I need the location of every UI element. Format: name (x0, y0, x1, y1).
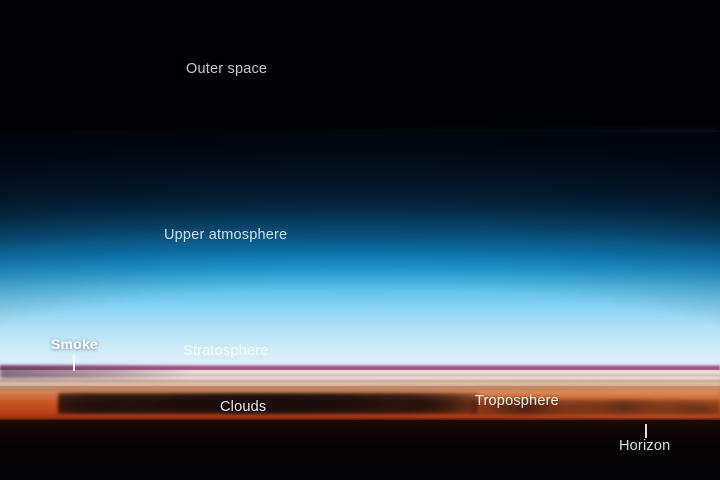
warm-haze-band (0, 386, 720, 402)
troposphere-glow-band (0, 400, 720, 426)
earth-night-side (0, 420, 720, 480)
label-outer-space: Outer space (186, 62, 267, 77)
dark-cloud-mass-left (58, 393, 478, 414)
leader-line-smoke (73, 355, 75, 371)
cloud-top-rim (0, 391, 720, 395)
label-smoke: Smoke (51, 337, 98, 351)
earth-limb-curvature (0, 132, 720, 382)
leader-line-horizon (645, 424, 647, 438)
label-stratosphere: Stratosphere (183, 344, 268, 359)
label-troposphere: Troposphere (475, 394, 559, 409)
airglow-streak (0, 125, 720, 170)
outer-space-band (0, 0, 720, 150)
horizon-edge-line (0, 418, 720, 422)
smoke-aerosol-band (0, 370, 720, 388)
label-upper-atmosphere: Upper atmosphere (164, 228, 287, 243)
tropopause-line (0, 364, 720, 373)
sunset-glow-right (0, 384, 720, 428)
label-horizon: Horizon (619, 439, 670, 454)
atmosphere-scene: Outer space Upper atmosphere Smoke Strat… (0, 0, 720, 480)
label-clouds: Clouds (220, 400, 266, 415)
smoke-dark-smudge (0, 366, 190, 379)
smoke-wisp-highlights (0, 368, 720, 390)
upper-atmosphere-band (0, 132, 720, 372)
airglow-streak-secondary (0, 132, 720, 169)
